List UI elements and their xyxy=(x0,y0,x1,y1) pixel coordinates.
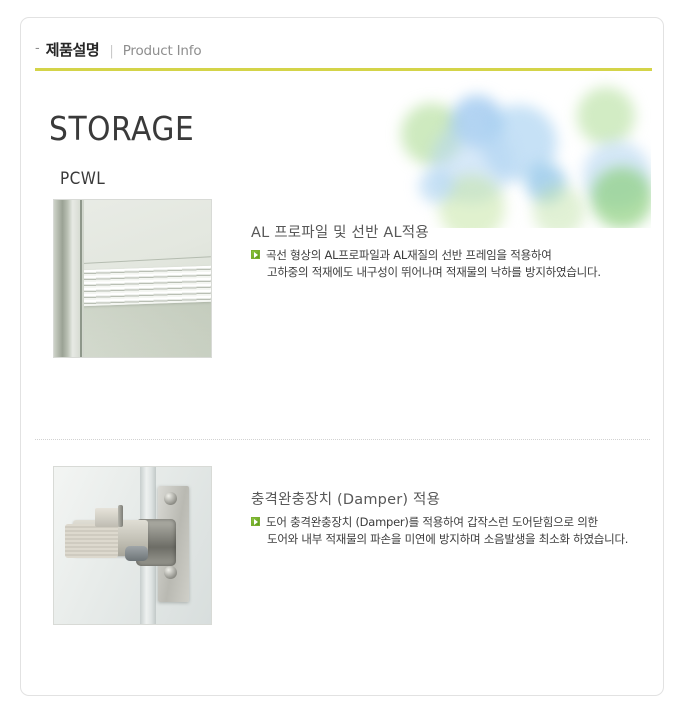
bubble-green-2 xyxy=(577,87,635,145)
al-profile-shelf-photo xyxy=(53,199,212,358)
bubble-blue-1 xyxy=(451,95,503,147)
damper-hinge-photo xyxy=(53,466,212,625)
header-dash: - xyxy=(35,42,40,55)
feature-line-1: 곡선 형상의 AL프로파일과 AL재질의 선반 프레임을 적용하여 xyxy=(266,247,651,264)
feature-line-2: 고하중의 적재에도 내구성이 뛰어나며 적재물의 낙하를 방지하였습니다. xyxy=(267,264,651,281)
feature-body: 도어 충격완충장치 (Damper)를 적용하여 갑작스런 도어닫힘으로 의한 … xyxy=(251,514,651,548)
bubble-green-5 xyxy=(533,185,585,228)
page-title-korean: 제품설명 xyxy=(46,39,100,60)
green-arrow-bullet-icon xyxy=(251,517,260,526)
page-header: - 제품설명 | Product Info xyxy=(35,39,201,60)
photo-door-seam xyxy=(80,200,82,357)
photo-hinge-pin xyxy=(118,505,123,527)
bubble-green-3 xyxy=(591,167,651,228)
photo-screw-bottom xyxy=(164,566,177,579)
model-name: PCWL xyxy=(60,169,105,189)
bubble-green-1 xyxy=(401,103,463,165)
feature-line-1: 도어 충격완충장치 (Damper)를 적용하여 갑작스런 도어닫힘으로 의한 xyxy=(266,514,651,531)
product-info-panel: - 제품설명 | Product Info STORAGE PCWL AL 프로… xyxy=(20,17,664,696)
feature-body: 곡선 형상의 AL프로파일과 AL재질의 선반 프레임을 적용하여 고하중의 적… xyxy=(251,247,651,281)
feature-title: 충격완충장치 (Damper) 적용 xyxy=(251,488,440,509)
photo-damper-body xyxy=(65,524,118,559)
bubble-blue-4 xyxy=(583,141,651,209)
section-divider xyxy=(35,439,650,440)
header-underline-rule xyxy=(35,68,652,71)
feature-line-2: 도어와 내부 적재물의 파손을 미연에 방지하며 소음발생을 최소화 하였습니다… xyxy=(267,531,651,548)
photo-hinge-lug xyxy=(95,508,120,527)
decorative-bubbles xyxy=(371,73,651,228)
header-separator: | xyxy=(109,44,113,59)
green-arrow-bullet-icon xyxy=(251,250,260,259)
photo-damper-piston xyxy=(125,546,149,562)
bullet-row: 도어 충격완충장치 (Damper)를 적용하여 갑작스런 도어닫힘으로 의한 … xyxy=(251,514,651,548)
photo-screw-top xyxy=(164,492,177,505)
bubble-green-4 xyxy=(439,175,505,228)
bullet-row: 곡선 형상의 AL프로파일과 AL재질의 선반 프레임을 적용하여 고하중의 적… xyxy=(251,247,651,281)
bubble-blue-2 xyxy=(481,105,557,181)
feature-title: AL 프로파일 및 선반 AL적용 xyxy=(251,221,429,242)
photo-aluminum-profile xyxy=(81,265,211,306)
category-title: STORAGE xyxy=(49,109,194,148)
bubble-blue-3 xyxy=(431,121,513,203)
bubble-blue-5 xyxy=(419,169,453,203)
page-title-english: Product Info xyxy=(123,43,202,59)
bubble-cyan-1 xyxy=(526,163,566,203)
